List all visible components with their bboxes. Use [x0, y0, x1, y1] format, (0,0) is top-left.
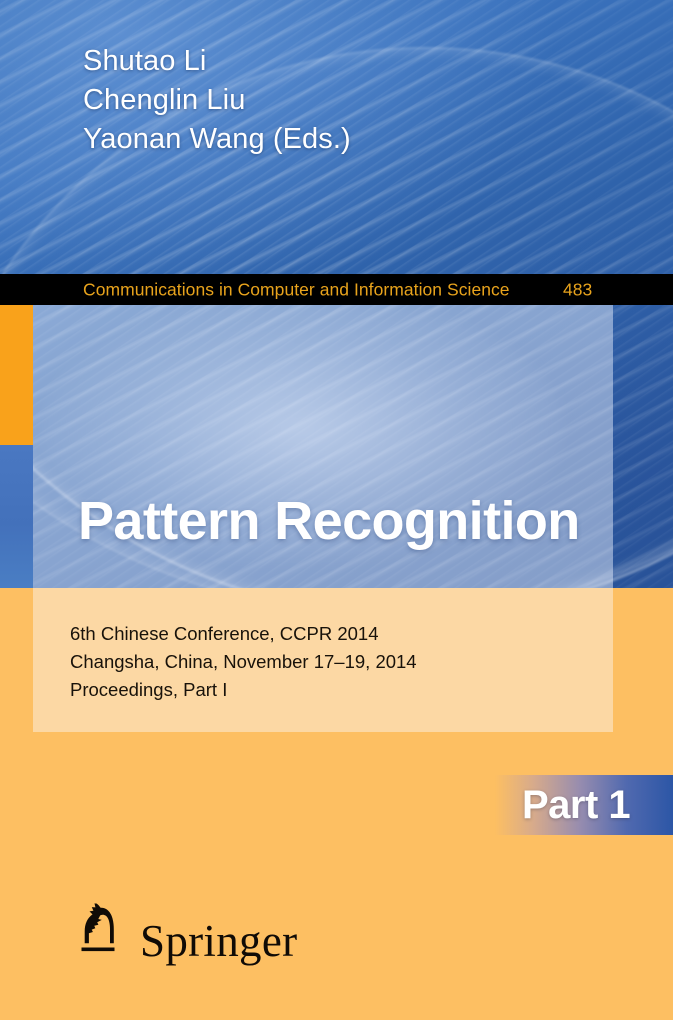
subtitle-line-conference: 6th Chinese Conference, CCPR 2014	[70, 620, 417, 648]
publisher-name: Springer	[140, 919, 297, 964]
left-orange-accent-bar	[0, 305, 33, 445]
series-name: Communications in Computer and Informati…	[83, 279, 510, 300]
editor-name-2: Chenglin Liu	[83, 81, 351, 120]
left-blue-accent-bar	[0, 445, 33, 588]
editors-block: Shutao Li Chenglin Liu Yaonan Wang (Eds.…	[83, 42, 351, 159]
page-title: Pattern Recognition	[78, 492, 580, 550]
subtitle-block: 6th Chinese Conference, CCPR 2014 Changs…	[70, 620, 417, 704]
series-banner: Communications in Computer and Informati…	[0, 274, 673, 305]
series-volume-number: 483	[563, 279, 592, 300]
book-cover: Shutao Li Chenglin Liu Yaonan Wang (Eds.…	[0, 0, 673, 1020]
publisher-logo: Springer	[72, 900, 297, 960]
editor-name-3: Yaonan Wang (Eds.)	[83, 120, 351, 159]
part-badge-label: Part 1	[522, 783, 630, 828]
springer-knight-icon	[72, 900, 128, 960]
editor-name-1: Shutao Li	[83, 42, 351, 81]
part-badge: Part 1	[495, 775, 673, 835]
subtitle-line-location-date: Changsha, China, November 17–19, 2014	[70, 648, 417, 676]
subtitle-line-proceedings-part: Proceedings, Part I	[70, 676, 417, 704]
